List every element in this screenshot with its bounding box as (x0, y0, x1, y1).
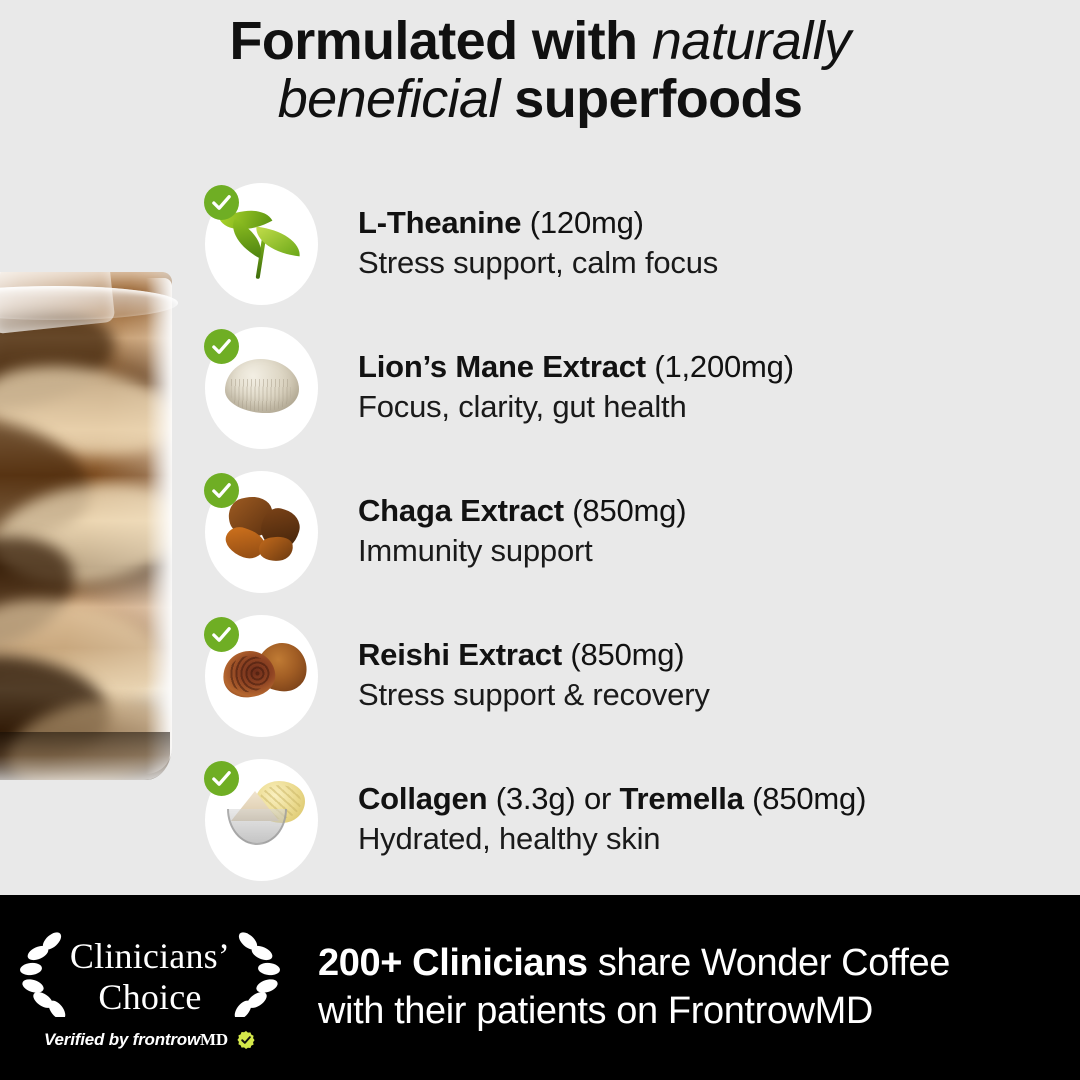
verified-prefix: Verified by frontrow (44, 1030, 200, 1049)
ingredient-name: Chaga Extract (850mg) (358, 493, 686, 530)
ingredient-dose: (850mg) (570, 637, 684, 672)
clinicians-footer-banner: Clinicians’ Choice (0, 895, 1080, 1080)
badge-title-row: Clinicians’ Choice (0, 931, 300, 1022)
ingredient-icon-wrap (196, 615, 318, 737)
page-title: Formulated with naturally beneficial sup… (0, 12, 1080, 129)
ingredient-desc: Focus, clarity, gut health (358, 387, 794, 427)
ingredient-text: Reishi Extract (850mg) Stress support & … (318, 637, 710, 715)
ingredient-name-join: or (576, 781, 620, 816)
ingredient-desc: Hydrated, healthy skin (358, 819, 866, 859)
ingredient-name-bold: Chaga Extract (358, 493, 564, 528)
ingredient-dose: (1,200mg) (654, 349, 794, 384)
verified-text: Verified by frontrowMD (44, 1030, 228, 1050)
ingredient-desc: Immunity support (358, 531, 686, 571)
ingredient-icon-wrap (196, 471, 318, 593)
laurel-wreath-icon (18, 931, 70, 1022)
check-icon (204, 617, 239, 652)
verified-md: MD (200, 1030, 228, 1049)
iced-coffee-image (0, 272, 172, 780)
ingredient-name-bold-2: Tremella (620, 781, 744, 816)
ingredient-dose-2: (850mg) (752, 781, 866, 816)
verified-check-icon (236, 1030, 256, 1050)
list-item: L-Theanine (120mg) Stress support, calm … (196, 172, 1080, 316)
check-icon (204, 185, 239, 220)
glass-highlight-right (146, 278, 172, 774)
ingredient-name-bold: L-Theanine (358, 205, 521, 240)
claim-rest: share Wonder Coffee (588, 942, 950, 984)
claim-bold: 200+ Clinicians (318, 942, 588, 984)
ingredient-text: Chaga Extract (850mg) Immunity support (318, 493, 686, 571)
clinicians-choice-badge: Clinicians’ Choice (0, 925, 300, 1050)
ingredient-desc: Stress support, calm focus (358, 243, 718, 283)
ingredient-icon-wrap (196, 327, 318, 449)
ingredient-dose: (120mg) (530, 205, 644, 240)
headline-bold-1: Formulated with (229, 11, 651, 71)
ingredient-dose: (3.3g) (496, 781, 576, 816)
badge-title-line-2: Choice (98, 977, 201, 1017)
ingredient-text: Lion’s Mane Extract (1,200mg) Focus, cla… (318, 349, 794, 427)
clinicians-claim: 200+ Clinicians share Wonder Coffee with… (300, 940, 1080, 1034)
ingredient-text: L-Theanine (120mg) Stress support, calm … (318, 205, 718, 283)
headline-bold-2: superfoods (514, 69, 802, 129)
ingredient-desc: Stress support & recovery (358, 675, 710, 715)
ingredient-name-bold: Collagen (358, 781, 487, 816)
ingredient-name: Reishi Extract (850mg) (358, 637, 710, 674)
headline-italic-1: naturally (652, 11, 851, 71)
claim-line-2: with their patients on FrontrowMD (318, 988, 1070, 1035)
ingredient-name: Lion’s Mane Extract (1,200mg) (358, 349, 794, 386)
glass-bowl (227, 809, 287, 845)
ingredient-text: Collagen (3.3g) or Tremella (850mg) Hydr… (318, 781, 866, 859)
glass-base (0, 732, 170, 780)
ingredient-icon-wrap (196, 183, 318, 305)
headline-line-1: Formulated with naturally (229, 11, 850, 71)
claim-line-1: 200+ Clinicians share Wonder Coffee (318, 940, 1070, 987)
check-icon (204, 329, 239, 364)
badge-title-line-1: Clinicians’ (70, 936, 230, 976)
ingredient-list: L-Theanine (120mg) Stress support, calm … (196, 172, 1080, 892)
laurel-wreath-icon (230, 931, 282, 1022)
ingredient-name-bold: Lion’s Mane Extract (358, 349, 646, 384)
check-icon (204, 761, 239, 796)
promo-graphic: Formulated with naturally beneficial sup… (0, 0, 1080, 1080)
headline-italic-2: beneficial (278, 69, 515, 129)
mushroom-shape (225, 359, 299, 413)
check-icon (204, 473, 239, 508)
ingredient-name: Collagen (3.3g) or Tremella (850mg) (358, 781, 866, 818)
ingredient-dose: (850mg) (572, 493, 686, 528)
list-item: Collagen (3.3g) or Tremella (850mg) Hydr… (196, 748, 1080, 892)
ingredient-name-bold: Reishi Extract (358, 637, 562, 672)
ingredient-icon-wrap (196, 759, 318, 881)
ingredient-name: L-Theanine (120mg) (358, 205, 718, 242)
list-item: Chaga Extract (850mg) Immunity support (196, 460, 1080, 604)
list-item: Lion’s Mane Extract (1,200mg) Focus, cla… (196, 316, 1080, 460)
verified-by-line: Verified by frontrowMD (0, 1030, 300, 1050)
headline-line-2: beneficial superfoods (278, 69, 803, 129)
list-item: Reishi Extract (850mg) Stress support & … (196, 604, 1080, 748)
badge-title: Clinicians’ Choice (70, 936, 230, 1017)
